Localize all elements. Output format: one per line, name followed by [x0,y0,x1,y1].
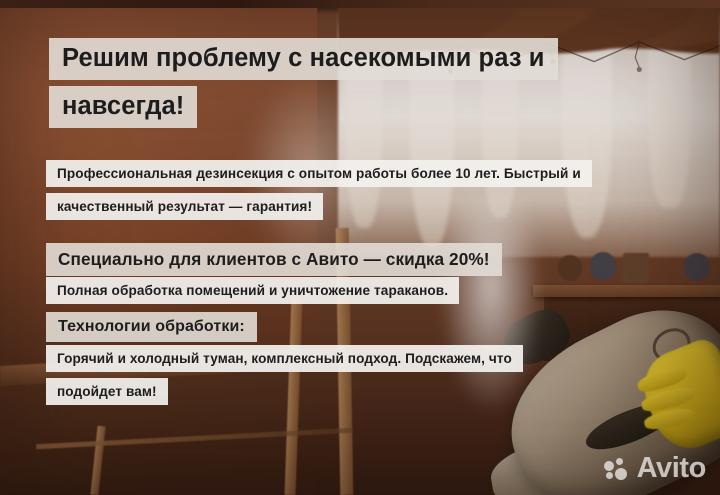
tech-line-1: Горячий и холодный туман, комплексный по… [46,345,523,372]
tech-heading: Технологии обработки: [46,312,257,342]
headline-line-1: Решим проблему с насекомыми раз и [49,38,558,80]
avito-watermark: Avito [604,454,706,483]
avito-wordmark: Avito [637,454,706,483]
avito-dots-icon [604,458,630,480]
promo-discount-line: Специально для клиентов с Авито — скидка… [46,243,502,276]
headline-line-2: навсегда! [49,86,197,128]
ad-copy: Решим проблему с насекомыми раз и навсег… [0,0,720,495]
avito-pest-control-ad: Решим проблему с насекомыми раз и навсег… [0,0,720,495]
intro-line-1: Профессиональная дезинсекция с опытом ра… [46,160,592,187]
intro-line-2: качественный результат — гарантия! [46,193,323,220]
promo-detail-line: Полная обработка помещений и уничтожение… [46,277,459,304]
tech-line-2: подойдет вам! [46,378,168,405]
